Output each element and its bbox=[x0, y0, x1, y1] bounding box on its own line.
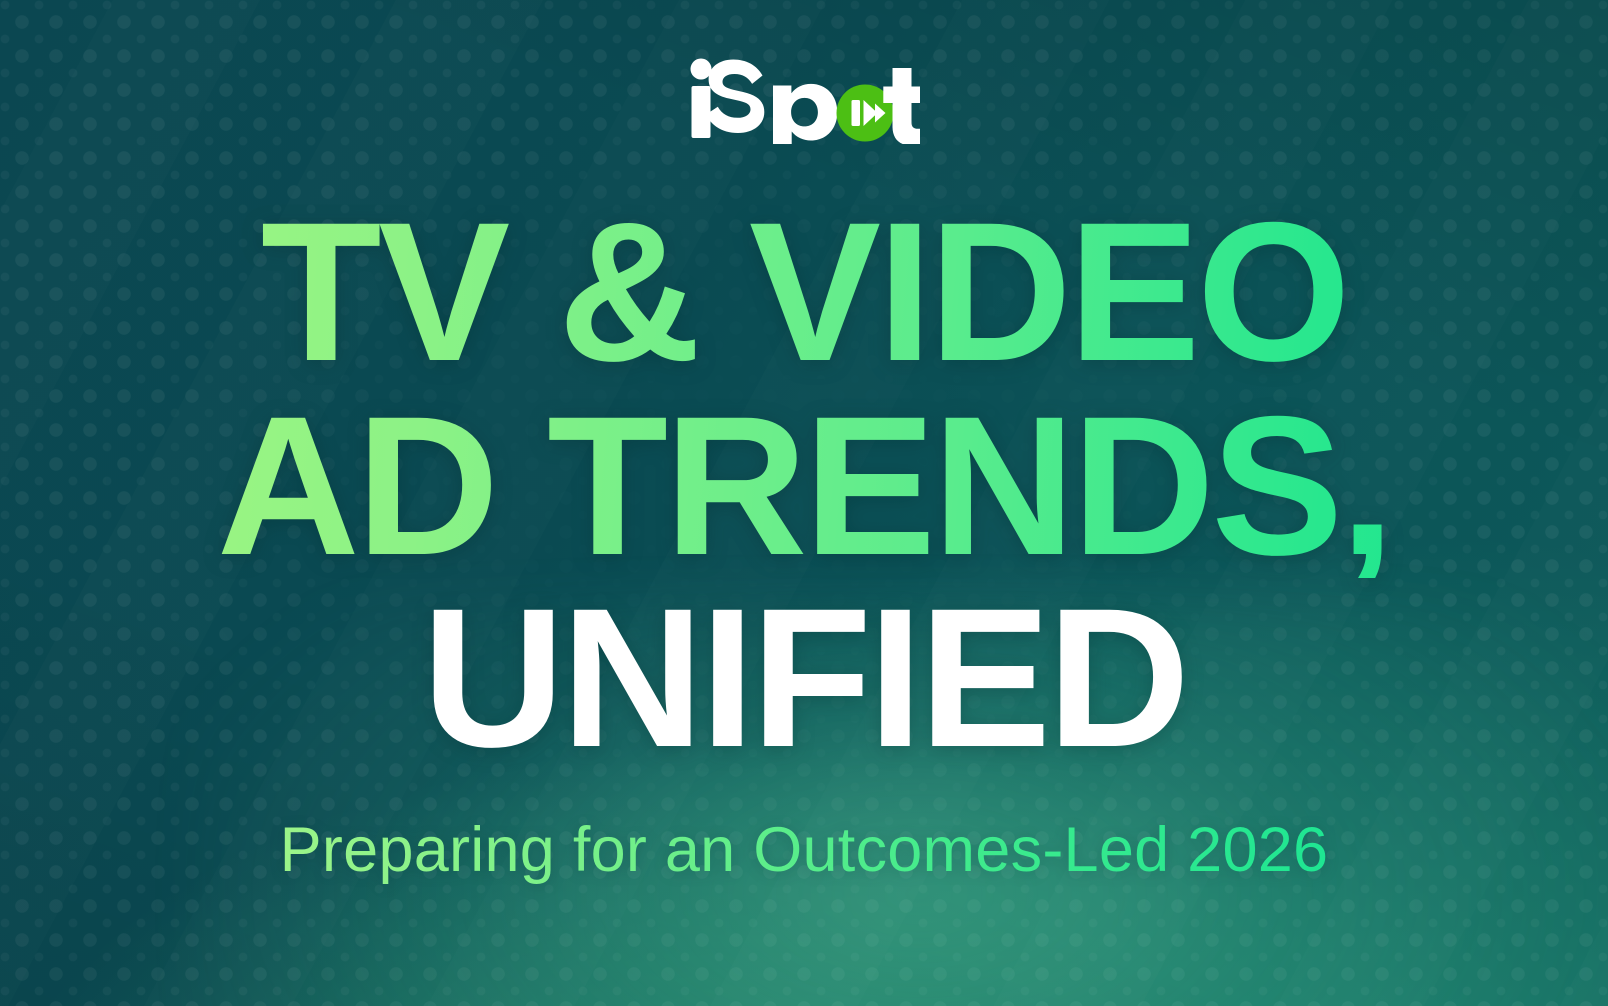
logo-letter-p bbox=[773, 84, 837, 144]
ispot-logo bbox=[688, 52, 920, 144]
logo-letter-i bbox=[691, 59, 712, 139]
subtitle: Preparing for an Outcomes-Led 2026 bbox=[280, 814, 1329, 886]
slide-content: TV & VIDEO AD TRENDS, UNIFIED Preparing … bbox=[0, 0, 1608, 1006]
headline-line-2: AD TRENDS, bbox=[0, 394, 1608, 578]
title-slide: TV & VIDEO AD TRENDS, UNIFIED Preparing … bbox=[0, 0, 1608, 1006]
logo-letter-S bbox=[706, 60, 764, 134]
page-title: TV & VIDEO AD TRENDS, UNIFIED bbox=[0, 200, 1608, 770]
headline-line-3: UNIFIED bbox=[0, 586, 1608, 770]
headline-line-1: TV & VIDEO bbox=[0, 200, 1608, 384]
